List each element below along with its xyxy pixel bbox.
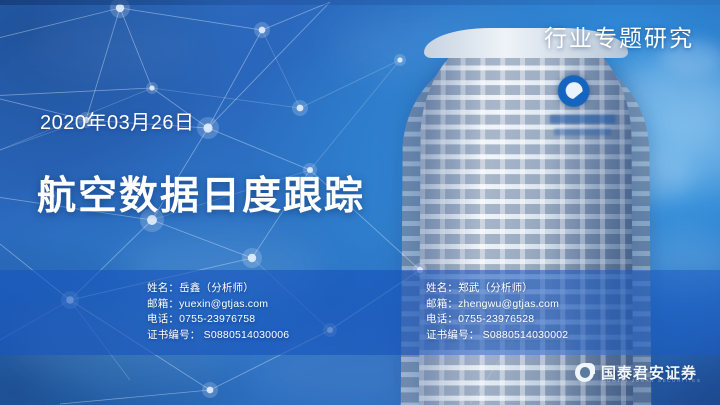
analyst-2-certificate: 证书编号： S0880514030002 bbox=[426, 328, 568, 344]
analyst-2-name: 姓名：郑武（分析师） bbox=[426, 281, 568, 297]
analyst-card-2: 姓名：郑武（分析师） 邮箱：zhengwu@gtjas.com 电话：0755-… bbox=[426, 281, 568, 343]
analyst-card-1: 姓名：岳鑫（分析师） 邮箱：yuexin@gtjas.com 电话：0755-2… bbox=[147, 281, 289, 343]
analyst-1-certificate: 证书编号： S0880514030006 bbox=[147, 328, 289, 344]
analyst-contact-band bbox=[0, 270, 720, 355]
page-title: 航空数据日度跟踪 bbox=[37, 165, 365, 221]
company-logo: 国泰君安证券 GUOTAI JUNAN SECURITIES bbox=[575, 361, 693, 385]
analyst-1-email: 邮箱：yuexin@gtjas.com bbox=[147, 297, 289, 313]
top-accent-strip bbox=[0, 0, 720, 5]
analyst-1-phone: 电话：0755-23976758 bbox=[147, 312, 289, 328]
guotai-junan-mark-icon bbox=[575, 363, 594, 382]
analyst-1-name: 姓名：岳鑫（分析师） bbox=[147, 281, 289, 297]
title-slide: 行业专题研究 2020年03月26日 航空数据日度跟踪 姓名：岳鑫（分析师） 邮… bbox=[0, 0, 720, 405]
report-date: 2020年03月26日 bbox=[40, 106, 194, 135]
analyst-2-phone: 电话：0755-23976528 bbox=[426, 312, 568, 328]
company-name-en: GUOTAI JUNAN SECURITIES bbox=[602, 378, 702, 383]
analyst-2-email: 邮箱：zhengwu@gtjas.com bbox=[426, 297, 568, 313]
report-category-label: 行业专题研究 bbox=[544, 19, 694, 53]
